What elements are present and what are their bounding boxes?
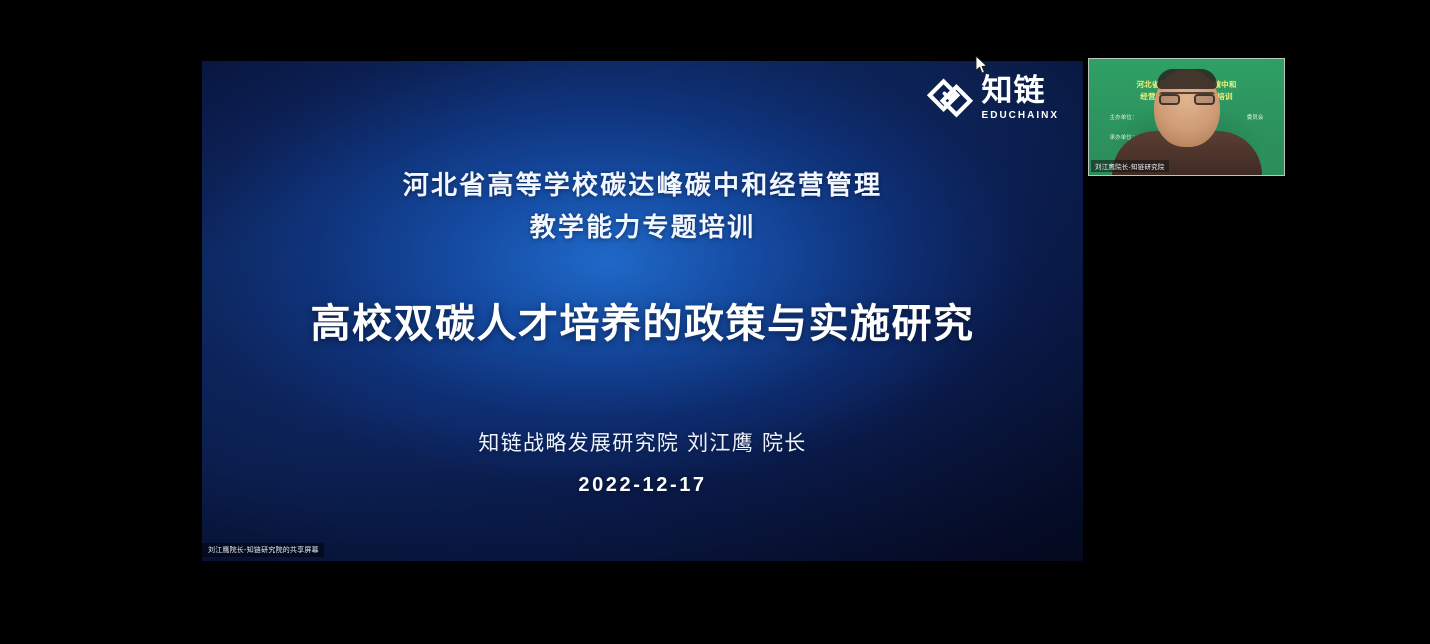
- participant-video-tile[interactable]: 河北省高等学校碳达峰碳中和 经营管理教学能力专题培训 主办单位： 河北省高等学校…: [1088, 58, 1285, 176]
- slide-presenter: 知链战略发展研究院 刘江鹰 院长: [202, 427, 1083, 457]
- educhainx-chain-logo-icon: [927, 75, 973, 121]
- slide-heading-line-1: 河北省高等学校碳达峰碳中和经营管理: [202, 165, 1083, 207]
- slide-main-title: 高校双碳人才培养的政策与实施研究: [202, 291, 1083, 349]
- brand-name-cn: 知链: [982, 76, 1046, 107]
- brand-logo: 知链 EDUCHAINX: [927, 75, 1059, 121]
- slide-date: 2022-12-17: [202, 474, 1083, 497]
- participant-name-label: 刘江鹰院长-知链研究院: [1091, 160, 1169, 172]
- meeting-stage: 知链 EDUCHAINX 河北省高等学校碳达峰碳中和经营管理 教学能力专题培训 …: [0, 0, 1430, 644]
- person-hair: [1157, 69, 1217, 89]
- brand-wordmark: 知链 EDUCHAINX: [982, 76, 1059, 121]
- slide-content: 河北省高等学校碳达峰碳中和经营管理 教学能力专题培训 高校双碳人才培养的政策与实…: [202, 165, 1083, 497]
- shared-screen-region[interactable]: 知链 EDUCHAINX 河北省高等学校碳达峰碳中和经营管理 教学能力专题培训 …: [202, 61, 1083, 561]
- slide-heading-line-2: 教学能力专题培训: [202, 207, 1083, 249]
- brand-name-en: EDUCHAINX: [982, 111, 1059, 121]
- share-attribution-label: 刘江鹰院长-知链研究院的共享屏幕: [202, 543, 324, 557]
- person-glasses: [1159, 92, 1215, 105]
